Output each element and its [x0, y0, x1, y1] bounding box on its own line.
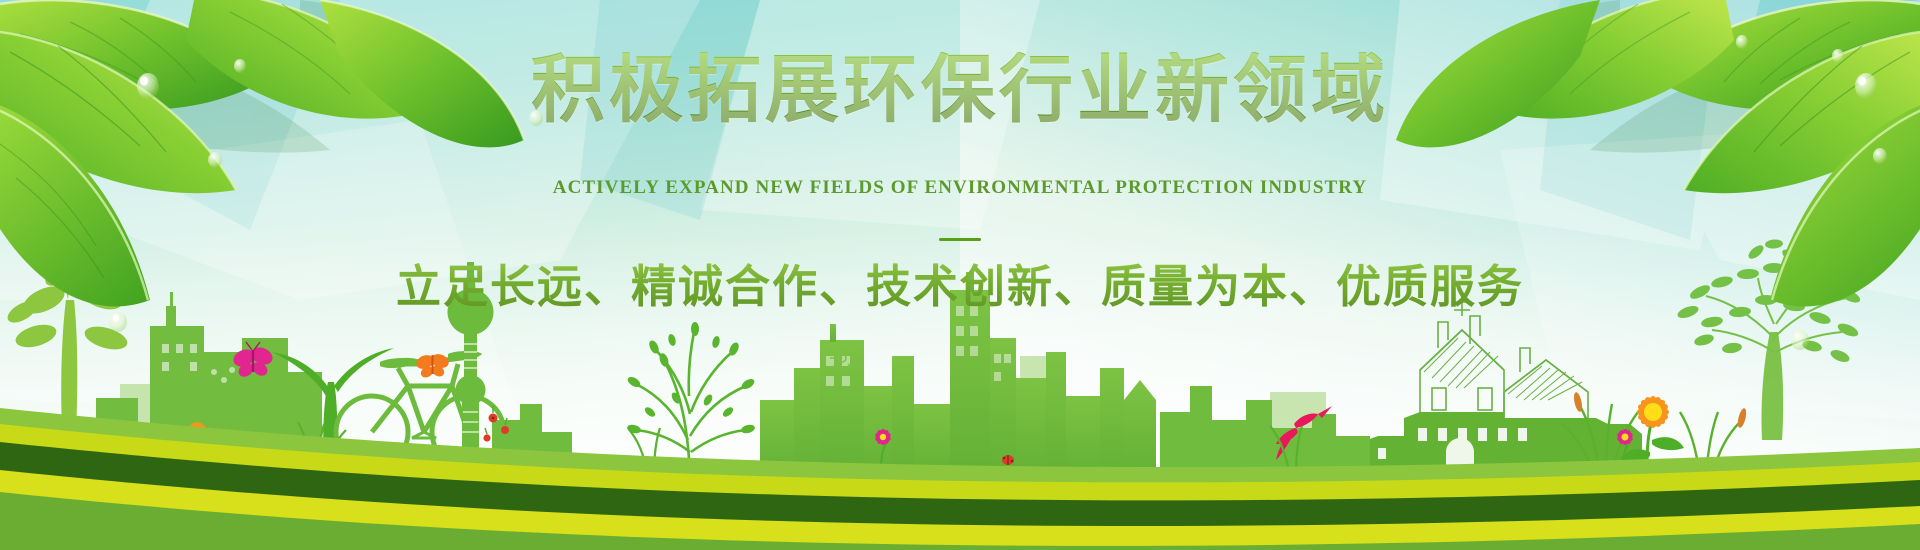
eco-banner: 积极拓展环保行业新领域 ACTIVELY EXPAND NEW FIELDS O… [0, 0, 1920, 550]
bottom-wave-bands [0, 0, 1920, 550]
